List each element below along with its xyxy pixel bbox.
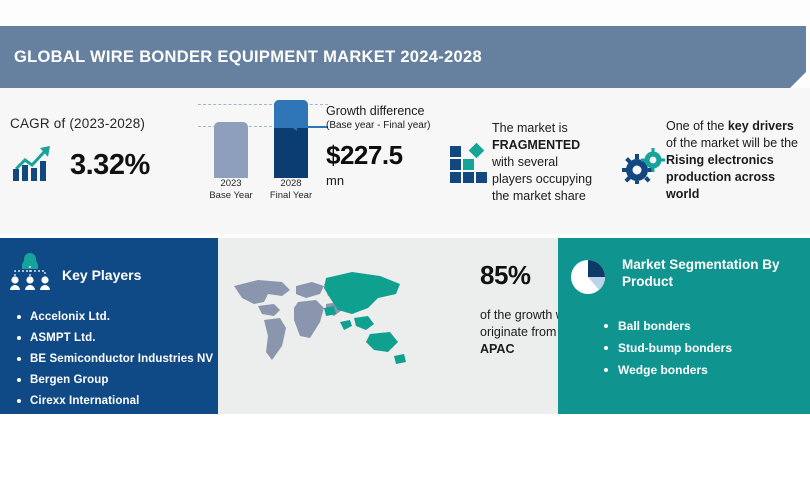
region-growth-panel: 85% of the growth will originate from AP… xyxy=(218,238,558,414)
infographic-root: GLOBAL WIRE BONDER EQUIPMENT MARKET 2024… xyxy=(0,0,810,480)
growth-title: Growth difference xyxy=(326,104,466,119)
drivers-line-1: One of the key drivers xyxy=(666,118,810,135)
segmentation-title: Market Segmentation By Product xyxy=(622,256,782,290)
year-comparison-bar-chart: 2023 Base Year 2028 Final Year xyxy=(198,100,328,200)
list-item: Ball bonders xyxy=(602,315,810,337)
gridline-top xyxy=(198,104,328,105)
drivers-line-1-bold: key drivers xyxy=(728,119,794,133)
growth-value: $227.5 xyxy=(326,140,466,171)
key-drivers-block: One of the key drivers of the market wil… xyxy=(666,118,810,203)
growth-subtitle: (Base year - Final year) xyxy=(326,119,466,132)
drivers-line-1-plain: One of the xyxy=(666,119,728,133)
list-item: BE Semiconductor Industries NV xyxy=(14,349,218,370)
key-players-title: Key Players xyxy=(62,267,141,283)
list-item: Bergen Group xyxy=(14,370,218,391)
fragmented-line-1: The market is xyxy=(492,120,612,137)
market-segmentation-panel: Market Segmentation By Product Ball bond… xyxy=(558,238,810,414)
key-players-panel: Key Players Accelonix Ltd. ASMPT Ltd. BE… xyxy=(0,238,218,414)
growth-callout-line xyxy=(292,126,328,128)
growth-difference-block: Growth difference (Base year - Final yea… xyxy=(326,104,466,188)
bar-label-2028: 2028 Final Year xyxy=(261,178,321,202)
list-item: Wedge bonders xyxy=(602,359,810,381)
header-banner: GLOBAL WIRE BONDER EQUIPMENT MARKET 2024… xyxy=(0,26,806,88)
growth-callout-arrow-icon xyxy=(290,121,297,131)
bar-2023 xyxy=(214,122,248,178)
market-fragmentation-block: The market is FRAGMENTED with several pl… xyxy=(492,120,612,205)
fragmented-line-4: the market share xyxy=(492,188,612,205)
fragmented-emphasis: FRAGMENTED xyxy=(492,137,612,154)
cagr-value: 3.32% xyxy=(70,149,150,182)
list-item: ASMPT Ltd. xyxy=(14,328,218,349)
footer: 17000+ Reports covering niche topics. Re… xyxy=(0,414,810,480)
list-item: Accelonix Ltd. xyxy=(14,307,218,328)
org-chart-icon xyxy=(8,252,52,297)
cagr-label: CAGR of (2023-2028) xyxy=(10,116,190,131)
cagr-block: CAGR of (2023-2028) 3.32% xyxy=(10,116,190,188)
gears-icon xyxy=(622,148,666,189)
segmentation-list: Ball bonders Stud-bump bonders Wedge bon… xyxy=(602,315,810,381)
bar-2028 xyxy=(274,100,308,178)
bar-label-2023: 2023 Base Year xyxy=(201,178,261,202)
drivers-line-3: Rising electronics xyxy=(666,152,810,169)
fragmented-line-3: players occupying xyxy=(492,171,612,188)
drivers-line-4: production across xyxy=(666,169,810,186)
world-map-icon xyxy=(228,264,418,379)
drivers-line-2: of the market will be the xyxy=(666,135,810,152)
fragmented-line-2: with several xyxy=(492,154,612,171)
key-players-list: Accelonix Ltd. ASMPT Ltd. BE Semiconduct… xyxy=(14,307,218,412)
list-item: Stud-bump bonders xyxy=(602,337,810,359)
grid-squares-icon xyxy=(448,142,490,189)
drivers-line-5: world xyxy=(666,186,810,203)
list-item: Cirexx International xyxy=(14,391,218,412)
growth-unit: mn xyxy=(326,173,466,188)
page-title: GLOBAL WIRE BONDER EQUIPMENT MARKET 2024… xyxy=(0,48,482,67)
bar-chart-growth-icon xyxy=(10,143,56,188)
pie-chart-icon xyxy=(568,256,610,303)
